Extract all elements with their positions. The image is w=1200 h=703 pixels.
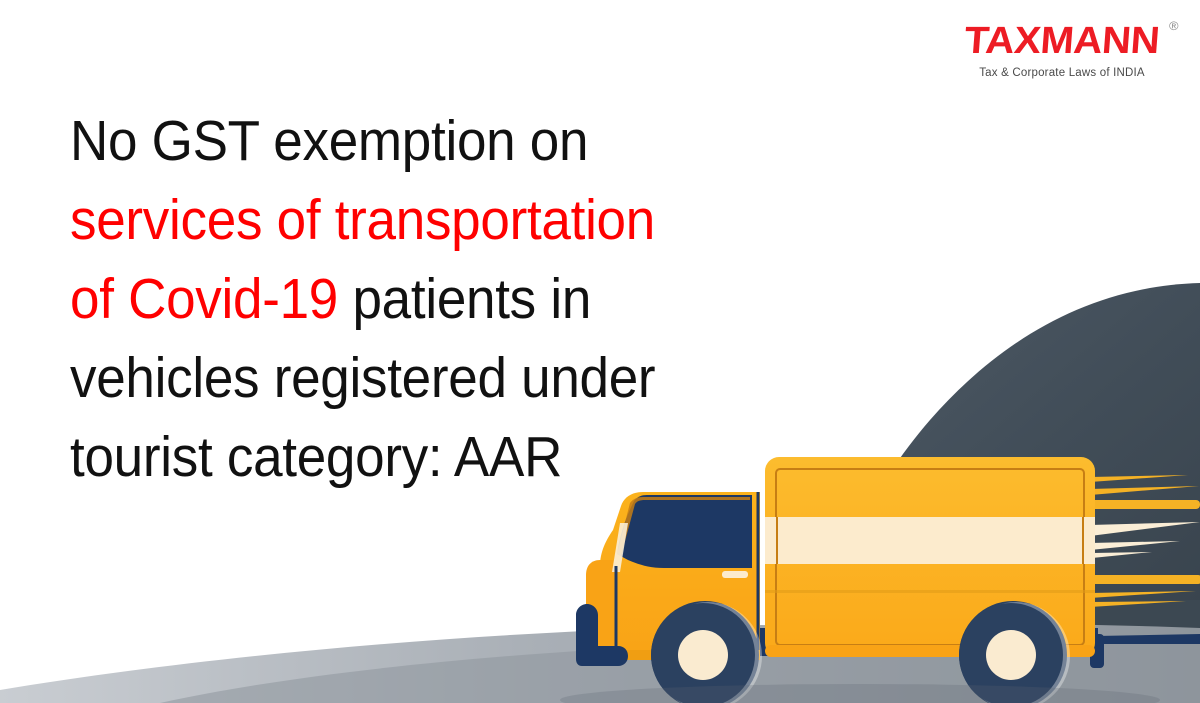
cargo-stripe — [765, 517, 1095, 564]
headline-line-3: of Covid-19 patients in — [70, 260, 833, 339]
registered-trademark-icon: ® — [1170, 20, 1179, 32]
logo-tagline: Tax & Corporate Laws of INDIA — [962, 67, 1162, 79]
logo-wordmark-label: TAXMANN — [963, 20, 1161, 62]
headline-segment: No GST exemption on — [70, 109, 588, 173]
logo-wordmark-text: TAXMANN ® — [963, 22, 1161, 60]
headline-segment-highlight: services of transportation — [70, 188, 655, 252]
headline-segment: patients in — [352, 267, 591, 331]
headline-segment: vehicles registered under — [70, 346, 655, 410]
windshield — [617, 495, 752, 568]
taxmann-logo[interactable]: TAXMANN ® Tax & Corporate Laws of INDIA — [962, 22, 1162, 79]
headline-segment-highlight: of Covid-19 — [70, 267, 352, 331]
page-headline: No GST exemption on services of transpor… — [70, 102, 833, 497]
headline-line-1: No GST exemption on — [70, 102, 833, 181]
headline-line-2: services of transportation — [70, 181, 833, 260]
headline-segment: tourist category: AAR — [70, 425, 562, 489]
headline-line-5: tourist category: AAR — [70, 418, 833, 497]
door-handle — [722, 571, 748, 578]
headline-line-4: vehicles registered under — [70, 339, 833, 418]
poster-canvas: No GST exemption on services of transpor… — [0, 0, 1200, 703]
